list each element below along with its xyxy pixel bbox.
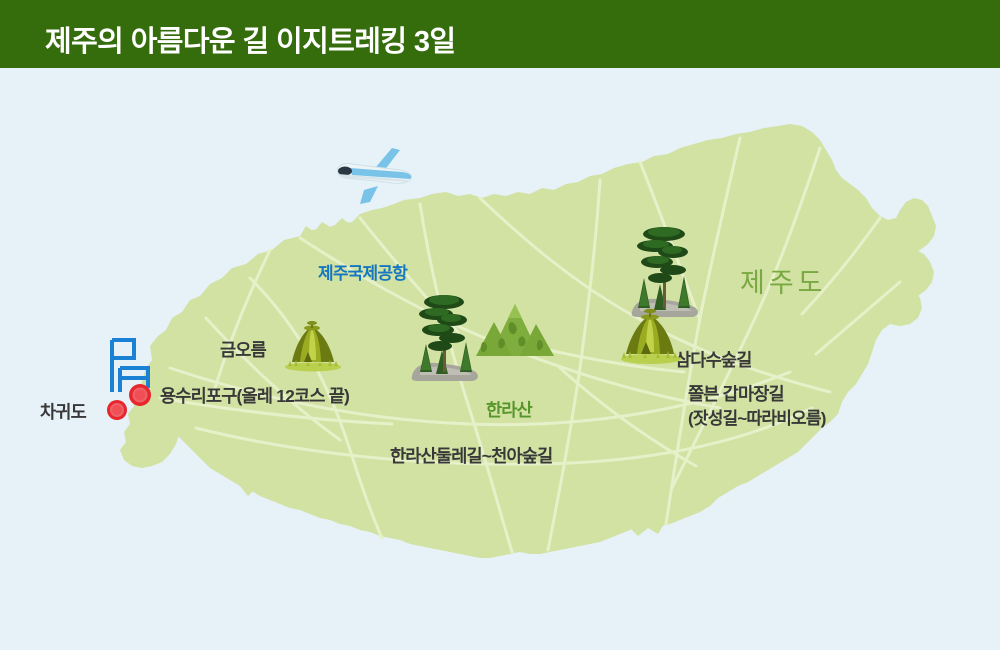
jeju-trekking-map-page: 제주의 아름다운 길 이지트레킹 3일 <box>0 0 1000 650</box>
label-samdasu-forest-road: 삼다수숲길 <box>675 351 752 371</box>
label-yongsuri-port: 용수리포구(올레 12코스 끝) <box>160 387 349 407</box>
map-canvas: 제주국제공항 제주도 용수리포구(올레 12코스 끝 <box>0 68 1000 650</box>
red-dot-marker-chagwido[interactable] <box>105 398 129 427</box>
label-geum-oreum: 금오름 <box>220 341 266 361</box>
oreum-hill-icon-geum <box>282 318 344 379</box>
label-hallasan: 한라산 <box>486 401 532 421</box>
oreum-hill-icon-gapmajang <box>618 306 684 373</box>
page-header: 제주의 아름다운 길 이지트레킹 3일 <box>0 0 1000 68</box>
label-jeju-island-region: 제주도 <box>740 268 827 298</box>
airplane-icon <box>330 146 422 213</box>
label-jjolbeun-gapmajang: 쫄븐 갑마장길 <box>688 385 784 405</box>
page-title: 제주의 아름다운 길 이지트레킹 3일 <box>45 18 455 60</box>
label-jjolbeun-gapmajang-sub: (잣성길~따라비오름) <box>688 409 826 428</box>
red-dot-marker-yongsuri[interactable] <box>127 382 153 413</box>
label-jeju-airport: 제주국제공항 <box>318 264 407 283</box>
label-chagwido: 차귀도 <box>40 403 86 423</box>
mountain-icon-hallasan <box>474 300 556 371</box>
label-hallasan-dulle-cheona: 한라산둘레길~천아숲길 <box>390 447 552 467</box>
